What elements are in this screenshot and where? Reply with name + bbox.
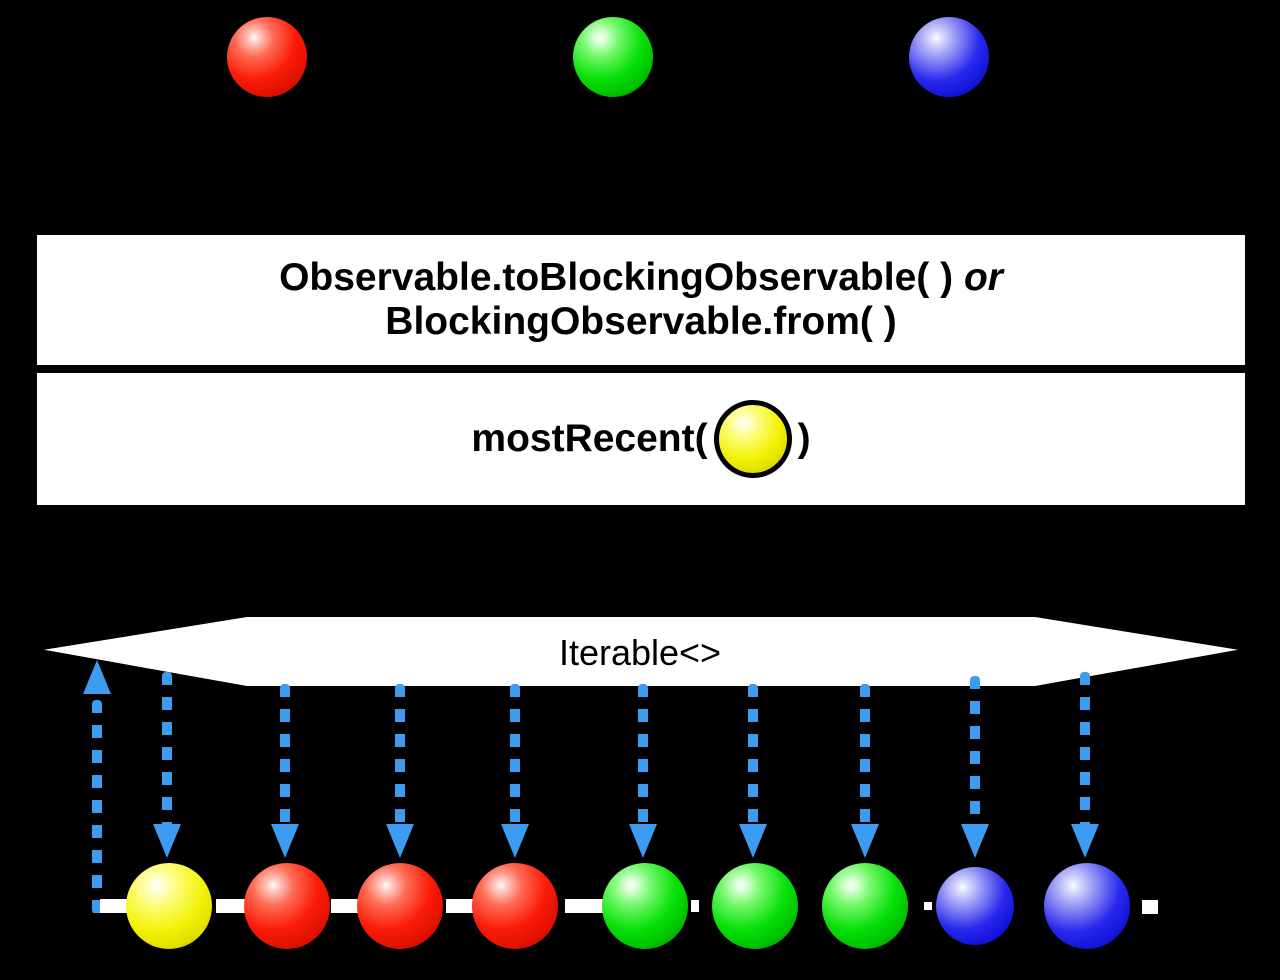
arrow-stem xyxy=(638,684,648,827)
blocking-observable-box: Observable.toBlockingObservable( ) or Bl… xyxy=(37,235,1245,365)
timeline-dash xyxy=(565,899,607,913)
arrow-head-down-icon xyxy=(271,824,299,858)
arrow-head-down-icon xyxy=(501,824,529,858)
blocking-observable-line-2: BlockingObservable.from( ) xyxy=(385,300,896,344)
source-marble-green xyxy=(573,17,653,97)
result-marble-green xyxy=(602,863,688,949)
arrow-head-up-icon xyxy=(83,660,111,694)
timeline-dash xyxy=(691,900,699,912)
arrow-head-down-icon xyxy=(386,824,414,858)
timeline-dash-end xyxy=(1142,900,1158,914)
arrow-stem xyxy=(970,676,980,827)
arrow-stem xyxy=(280,684,290,827)
arrow-head-down-icon xyxy=(1071,824,1099,858)
iterable-hexagon-label: Iterable<> xyxy=(440,632,840,674)
result-marble-blue xyxy=(936,867,1014,945)
source-marble-blue xyxy=(909,17,989,97)
most-recent-label-before: mostRecent( xyxy=(471,417,707,461)
result-marble-red xyxy=(357,863,443,949)
arrow-head-down-icon xyxy=(629,824,657,858)
result-marble-blue xyxy=(1044,863,1130,949)
most-recent-signature: mostRecent( ) xyxy=(471,400,810,478)
arrow-head-down-icon xyxy=(961,824,989,858)
arrow-stem xyxy=(510,684,520,827)
blocking-observable-or: or xyxy=(964,256,1003,299)
most-recent-initial-value-marble xyxy=(714,400,792,478)
arrow-stem xyxy=(860,684,870,827)
arrow-head-down-icon xyxy=(851,824,879,858)
timeline-dash xyxy=(924,902,932,910)
blocking-observable-text: Observable.toBlockingObservable( ) xyxy=(279,256,953,299)
arrow-head-down-icon xyxy=(153,824,181,858)
result-marble-green xyxy=(712,863,798,949)
most-recent-box: mostRecent( ) xyxy=(37,373,1245,505)
arrow-head-down-icon xyxy=(739,824,767,858)
arrow-stem xyxy=(162,672,172,827)
arrow-stem xyxy=(748,684,758,827)
arrow-stem xyxy=(92,700,102,914)
arrow-stem xyxy=(1080,672,1090,827)
result-marble-yellow xyxy=(126,863,212,949)
result-marble-red xyxy=(472,863,558,949)
result-marble-red xyxy=(244,863,330,949)
arrow-stem xyxy=(395,684,405,827)
blocking-observable-line-1: Observable.toBlockingObservable( ) or xyxy=(279,256,1003,300)
result-marble-green xyxy=(822,863,908,949)
most-recent-label-after: ) xyxy=(798,417,811,461)
marble-diagram-canvas: Observable.toBlockingObservable( ) or Bl… xyxy=(0,0,1280,980)
source-marble-red xyxy=(227,17,307,97)
